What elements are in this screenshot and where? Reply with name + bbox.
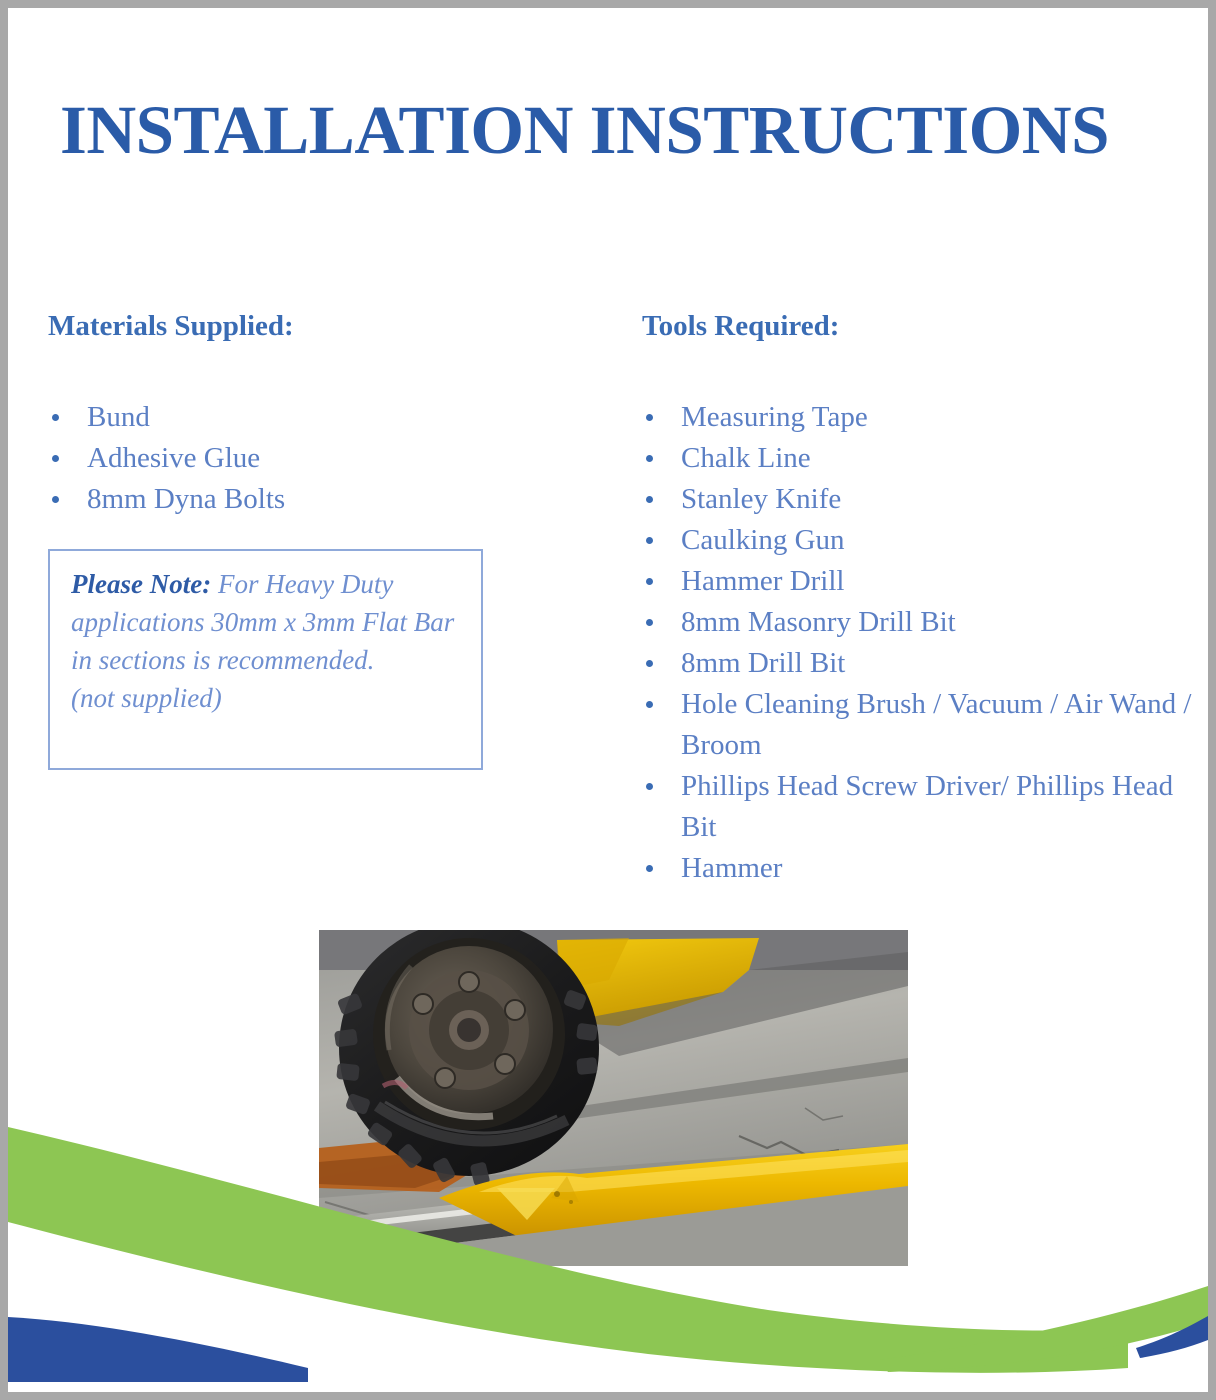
tools-required-list: Measuring Tape Chalk Line Stanley Knife … xyxy=(642,397,1202,889)
list-item-label: 8mm Dyna Bolts xyxy=(87,483,285,515)
tools-required-section: Tools Required: Measuring Tape Chalk Lin… xyxy=(642,310,1202,889)
bullet-icon xyxy=(646,701,653,708)
list-item: Phillips Head Screw Driver/ Phillips Hea… xyxy=(642,766,1202,848)
materials-supplied-section: Materials Supplied: Bund Adhesive Glue 8… xyxy=(48,310,568,520)
swoosh-blue xyxy=(8,1317,308,1382)
bullet-icon xyxy=(646,496,653,503)
list-item-label: Hammer xyxy=(681,852,782,884)
list-item: Measuring Tape xyxy=(642,397,1202,438)
bullet-icon xyxy=(52,414,59,421)
bullet-icon xyxy=(646,660,653,667)
bullet-icon xyxy=(646,619,653,626)
list-item: 8mm Dyna Bolts xyxy=(48,479,568,520)
list-item: 8mm Drill Bit xyxy=(642,643,1202,684)
list-item-label: Hammer Drill xyxy=(681,565,844,597)
bullet-icon xyxy=(646,455,653,462)
list-item-label: 8mm Drill Bit xyxy=(681,647,845,679)
list-item: Adhesive Glue xyxy=(48,438,568,479)
list-item-label: Stanley Knife xyxy=(681,483,841,515)
materials-supplied-heading: Materials Supplied: xyxy=(48,310,568,343)
list-item-label: Chalk Line xyxy=(681,442,811,474)
bullet-icon xyxy=(646,865,653,872)
bullet-icon xyxy=(646,537,653,544)
list-item: 8mm Masonry Drill Bit xyxy=(642,602,1202,643)
page-title: INSTALLATION INSTRUCTIONS xyxy=(60,96,1180,165)
list-item-label: Bund xyxy=(87,401,150,433)
list-item: Hammer xyxy=(642,848,1202,889)
swoosh-blue-right xyxy=(1136,1316,1208,1358)
bullet-icon xyxy=(646,414,653,421)
please-note-extra: (not supplied) xyxy=(71,683,222,713)
list-item: Hole Cleaning Brush / Vacuum / Air Wand … xyxy=(642,684,1202,766)
list-item-label: Adhesive Glue xyxy=(87,442,260,474)
please-note-label: Please Note: xyxy=(71,569,211,599)
list-item: Stanley Knife xyxy=(642,479,1202,520)
list-item: Hammer Drill xyxy=(642,561,1202,602)
list-item-label: Measuring Tape xyxy=(681,401,868,433)
materials-supplied-list: Bund Adhesive Glue 8mm Dyna Bolts xyxy=(48,397,568,520)
list-item: Caulking Gun xyxy=(642,520,1202,561)
list-item: Bund xyxy=(48,397,568,438)
list-item-label: Hole Cleaning Brush / Vacuum / Air Wand … xyxy=(681,688,1192,761)
page-frame: INSTALLATION INSTRUCTIONS Materials Supp… xyxy=(8,8,1208,1392)
list-item-label: Caulking Gun xyxy=(681,524,845,556)
please-note-text: Please Note: For Heavy Duty applications… xyxy=(71,565,469,717)
list-item-label: 8mm Masonry Drill Bit xyxy=(681,606,956,638)
bullet-icon xyxy=(52,455,59,462)
bullet-icon xyxy=(52,496,59,503)
installation-photo xyxy=(319,930,908,1266)
list-item: Chalk Line xyxy=(642,438,1202,479)
bullet-icon xyxy=(646,578,653,585)
swoosh-green-right xyxy=(880,1286,1208,1372)
tools-required-heading: Tools Required: xyxy=(642,310,1202,343)
please-note-box: Please Note: For Heavy Duty applications… xyxy=(48,549,483,770)
installation-photo-graphic xyxy=(319,930,908,1266)
list-item-label: Phillips Head Screw Driver/ Phillips Hea… xyxy=(681,770,1173,843)
bullet-icon xyxy=(646,783,653,790)
